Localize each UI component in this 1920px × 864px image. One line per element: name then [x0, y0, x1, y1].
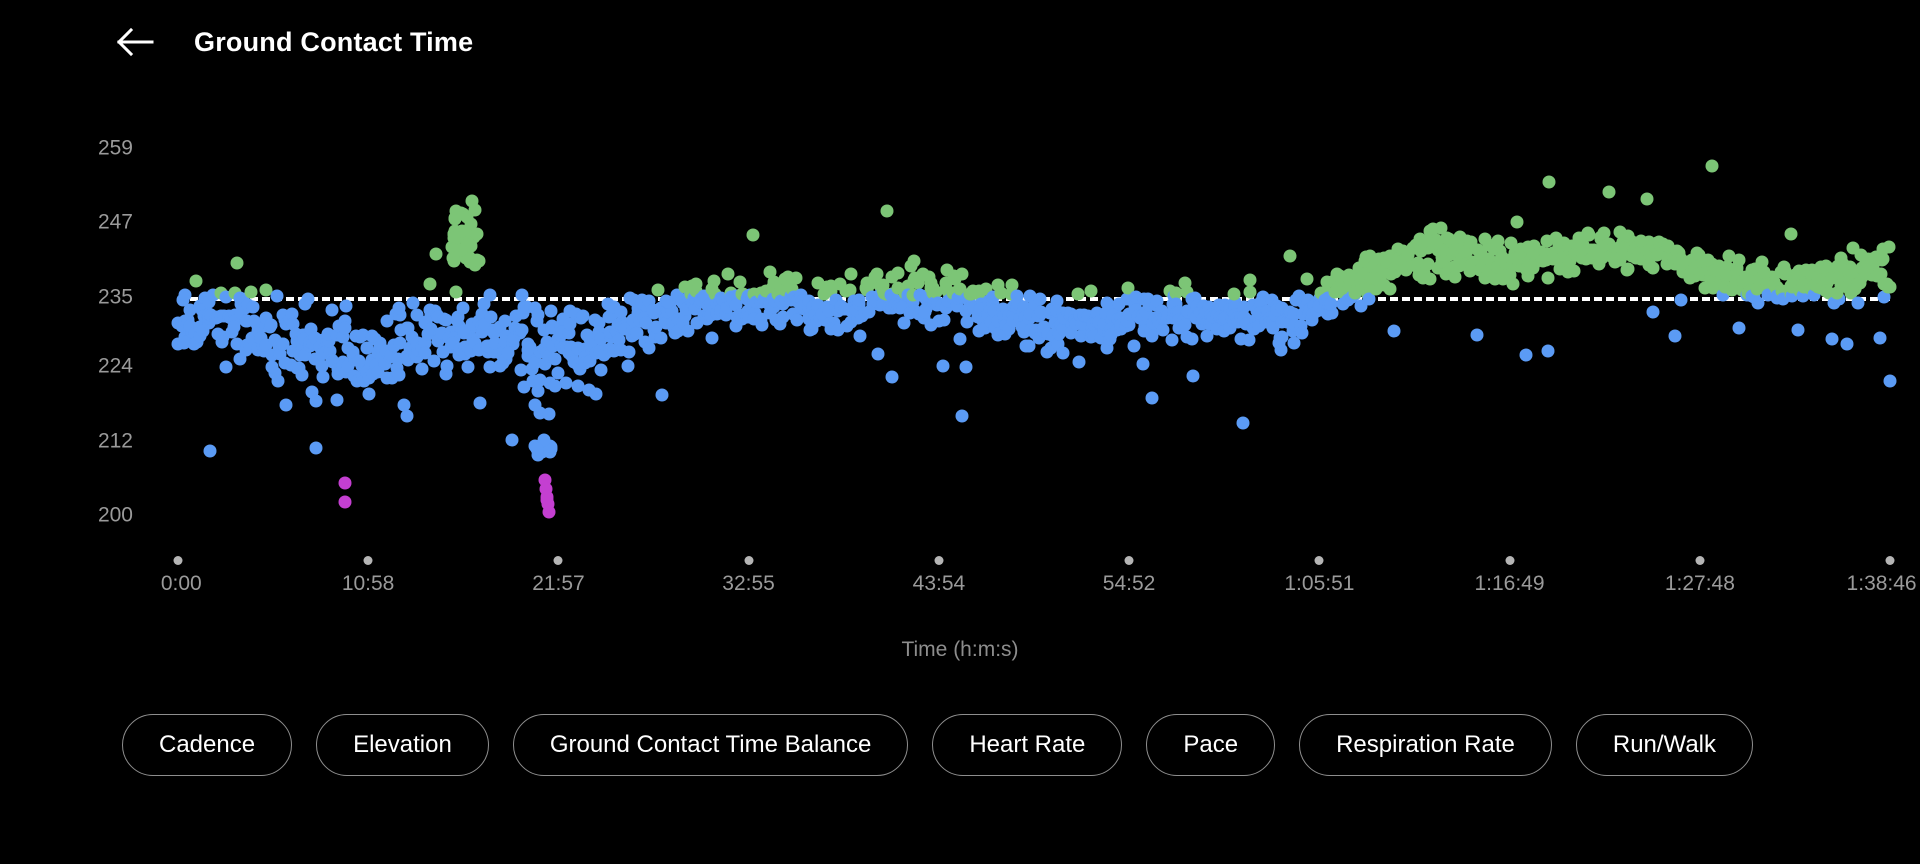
- scatter-point: [1883, 241, 1896, 254]
- scatter-point: [190, 275, 203, 288]
- scatter-point: [789, 272, 802, 285]
- scatter-point: [429, 247, 442, 260]
- x-axis-tick-label: 1:38:46: [1847, 572, 1917, 596]
- metric-button-label: Respiration Rate: [1336, 731, 1515, 759]
- scatter-point: [532, 309, 545, 322]
- scatter-point: [516, 323, 529, 336]
- scatter-point: [1669, 330, 1682, 343]
- scatter-point: [733, 275, 746, 288]
- scatter-point: [415, 362, 428, 375]
- scatter-point: [440, 359, 453, 372]
- scatter-point: [338, 476, 351, 489]
- scatter-point: [340, 300, 353, 313]
- scatter-point: [502, 346, 515, 359]
- scatter-point: [937, 360, 950, 373]
- scatter-point: [560, 376, 573, 389]
- scatter-point: [614, 306, 627, 319]
- scatter-point: [338, 322, 351, 335]
- scatter-point: [541, 494, 554, 507]
- chart-container: 259247235224212200 0:0010:5821:5732:5543…: [0, 84, 1920, 704]
- scatter-point: [1646, 305, 1659, 318]
- scatter-point: [622, 345, 635, 358]
- scatter-point: [474, 396, 487, 409]
- scatter-point: [1675, 294, 1688, 307]
- scatter-point: [245, 286, 258, 299]
- scatter-point: [953, 333, 966, 346]
- scatter-point: [231, 257, 244, 270]
- scatter-point: [1581, 227, 1594, 240]
- scatter-point: [1732, 253, 1745, 266]
- metric-button-heart-rate[interactable]: Heart Rate: [932, 714, 1122, 776]
- scatter-point: [1296, 327, 1309, 340]
- scatter-point: [845, 267, 858, 280]
- x-axis-tick-label: 1:16:49: [1474, 572, 1544, 596]
- scatter-point: [1073, 356, 1086, 369]
- scatter-point: [1567, 264, 1580, 277]
- scatter-point: [1785, 228, 1798, 241]
- scatter-point: [871, 348, 884, 361]
- scatter-point: [1603, 185, 1616, 198]
- scatter-point: [215, 336, 228, 349]
- scatter-point: [938, 314, 951, 327]
- scatter-point: [228, 321, 241, 334]
- scatter-point: [960, 361, 973, 374]
- scatter-point: [1470, 329, 1483, 342]
- x-axis-tick-dot: [1315, 556, 1324, 565]
- ground-contact-time-screen: Ground Contact Time 259247235224212200 0…: [0, 0, 1920, 864]
- scatter-point: [1873, 331, 1886, 344]
- app-header: Ground Contact Time: [0, 0, 1920, 84]
- scatter-point: [1227, 288, 1240, 301]
- scatter-point: [1877, 252, 1890, 265]
- scatter-point: [595, 364, 608, 377]
- scatter-point: [880, 205, 893, 218]
- scatter-point: [532, 384, 545, 397]
- metric-button-cadence[interactable]: Cadence: [122, 714, 292, 776]
- scatter-point: [530, 442, 543, 455]
- x-axis-tick-dot: [554, 556, 563, 565]
- scatter-point: [309, 395, 322, 408]
- scatter-point: [1274, 344, 1287, 357]
- scatter-point: [1388, 325, 1401, 338]
- metric-button-label: Run/Walk: [1613, 731, 1716, 759]
- scatter-point: [326, 304, 339, 317]
- x-axis-tick-dot: [1125, 556, 1134, 565]
- scatter-point: [1020, 339, 1033, 352]
- scatter-point: [450, 286, 463, 299]
- scatter-point: [955, 267, 968, 280]
- back-button[interactable]: [108, 14, 164, 70]
- y-axis-tick-label: 200: [98, 505, 133, 526]
- scatter-point: [1541, 344, 1554, 357]
- scatter-point: [1057, 346, 1070, 359]
- metric-button-ground-contact-time-balance[interactable]: Ground Contact Time Balance: [513, 714, 909, 776]
- metric-button-row: CadenceElevationGround Contact Time Bala…: [0, 714, 1920, 776]
- scatter-point: [461, 211, 474, 224]
- scatter-point: [1237, 416, 1250, 429]
- y-axis-labels: 259247235224212200: [0, 84, 178, 584]
- scatter-point: [1507, 277, 1520, 290]
- scatter-point: [363, 387, 376, 400]
- scatter-point: [203, 445, 216, 458]
- metric-button-label: Pace: [1183, 731, 1238, 759]
- y-axis-tick-label: 247: [98, 212, 133, 233]
- scatter-point: [461, 361, 474, 374]
- metric-button-respiration-rate[interactable]: Respiration Rate: [1299, 714, 1552, 776]
- scatter-point: [1187, 370, 1200, 383]
- scatter-point: [1137, 358, 1150, 371]
- scatter-point: [621, 359, 634, 372]
- x-axis-tick-label: 10:58: [342, 572, 395, 596]
- x-axis-title: Time (h:m:s): [0, 638, 1920, 662]
- scatter-point: [401, 410, 414, 423]
- scatter-point: [956, 409, 969, 422]
- scatter-point: [706, 332, 719, 345]
- scatter-point: [1491, 234, 1504, 247]
- x-axis-tick-dot: [1695, 556, 1704, 565]
- scatter-point: [589, 388, 602, 401]
- x-axis-tick-label: 54:52: [1103, 572, 1156, 596]
- scatter-point: [1085, 285, 1098, 298]
- scatter-point: [1283, 249, 1296, 262]
- scatter-point: [707, 274, 720, 287]
- scatter-point: [316, 370, 329, 383]
- scatter-point: [392, 368, 405, 381]
- scatter-point: [219, 360, 232, 373]
- scatter-point: [886, 370, 899, 383]
- scatter-point: [747, 228, 760, 241]
- scatter-point: [301, 292, 314, 305]
- x-axis-tick-dot: [364, 556, 373, 565]
- scatter-point: [1072, 288, 1085, 301]
- scatter-point: [529, 399, 542, 412]
- x-axis-tick-dot: [1886, 556, 1895, 565]
- scatter-point: [1851, 296, 1864, 309]
- y-axis-tick-label: 224: [98, 355, 133, 376]
- scatter-point: [908, 255, 921, 268]
- scatter-point: [1622, 263, 1635, 276]
- scatter-point: [1841, 337, 1854, 350]
- scatter-point: [853, 330, 866, 343]
- scatter-point: [542, 505, 555, 518]
- metric-button-elevation[interactable]: Elevation: [316, 714, 489, 776]
- scatter-point: [1884, 280, 1897, 293]
- scatter-point: [338, 495, 351, 508]
- scatter-point: [392, 301, 405, 314]
- x-axis-tick-label: 21:57: [532, 572, 585, 596]
- scatter-point: [270, 290, 283, 303]
- x-axis-tick-label: 1:05:51: [1284, 572, 1354, 596]
- scatter-point: [448, 212, 461, 225]
- metric-button-label: Heart Rate: [969, 731, 1085, 759]
- y-axis-tick-label: 259: [98, 137, 133, 158]
- scatter-point: [1542, 272, 1555, 285]
- metric-button-label: Ground Contact Time Balance: [550, 731, 872, 759]
- x-axis-tick-label: 1:27:48: [1665, 572, 1735, 596]
- scatter-point: [247, 300, 260, 313]
- scatter-point: [1733, 322, 1746, 335]
- y-axis-tick-label: 212: [98, 430, 133, 451]
- scatter-point: [1884, 375, 1897, 388]
- x-axis-tick-dot: [934, 556, 943, 565]
- scatter-point: [331, 393, 344, 406]
- scatter-point: [484, 289, 497, 302]
- scatter-point: [992, 279, 1005, 292]
- metric-button-label: Cadence: [159, 731, 255, 759]
- scatter-point: [352, 354, 365, 367]
- scatter-point: [456, 224, 469, 237]
- scatter-point: [1033, 293, 1046, 306]
- scatter-point: [1186, 333, 1199, 346]
- scatter-point: [548, 353, 561, 366]
- scatter-point: [1128, 340, 1141, 353]
- scatter-point: [466, 194, 479, 207]
- scatter-point: [470, 227, 483, 240]
- arrow-left-icon: [117, 27, 155, 57]
- scatter-point: [655, 388, 668, 401]
- scatter-point: [1448, 271, 1461, 284]
- scatter-point: [1146, 392, 1159, 405]
- scatter-point: [179, 288, 192, 301]
- scatter-point: [1511, 215, 1524, 228]
- scatter-point: [272, 374, 285, 387]
- scatter-point: [1640, 193, 1653, 206]
- scatter-point: [891, 267, 904, 280]
- metric-button-pace[interactable]: Pace: [1146, 714, 1275, 776]
- scatter-point: [1791, 323, 1804, 336]
- scatter-point: [279, 399, 292, 412]
- scatter-point: [424, 277, 437, 290]
- scatter-point: [542, 407, 555, 420]
- x-axis-tick-label: 32:55: [722, 572, 775, 596]
- scatter-point: [265, 318, 278, 331]
- scatter-point: [1705, 160, 1718, 173]
- scatter-point: [309, 441, 322, 454]
- scatter-point: [1244, 285, 1257, 298]
- x-axis-tick-dot: [1505, 556, 1514, 565]
- scatter-point: [1166, 334, 1179, 347]
- metric-button-label: Elevation: [353, 731, 452, 759]
- x-axis-tick-label: 0:00: [161, 572, 202, 596]
- page-title: Ground Contact Time: [194, 27, 473, 58]
- scatter-point: [1519, 349, 1532, 362]
- scatter-plot-area[interactable]: [178, 129, 1890, 534]
- x-axis-tick-dot: [174, 556, 183, 565]
- scatter-point: [266, 361, 279, 374]
- metric-button-run-walk[interactable]: Run/Walk: [1576, 714, 1753, 776]
- x-axis-tick-label: 43:54: [913, 572, 966, 596]
- scatter-point: [1300, 273, 1313, 286]
- scatter-point: [1825, 332, 1838, 345]
- scatter-point: [1543, 175, 1556, 188]
- x-axis-tick-dot: [744, 556, 753, 565]
- scatter-point: [471, 254, 484, 267]
- scatter-point: [545, 305, 558, 318]
- scatter-point: [1383, 282, 1396, 295]
- scatter-point: [456, 301, 469, 314]
- scatter-point: [447, 252, 460, 265]
- scatter-point: [1646, 262, 1659, 275]
- scatter-point: [654, 332, 667, 345]
- y-axis-tick-label: 235: [98, 287, 133, 308]
- scatter-point: [506, 433, 519, 446]
- scatter-point: [296, 368, 309, 381]
- scatter-point: [721, 268, 734, 281]
